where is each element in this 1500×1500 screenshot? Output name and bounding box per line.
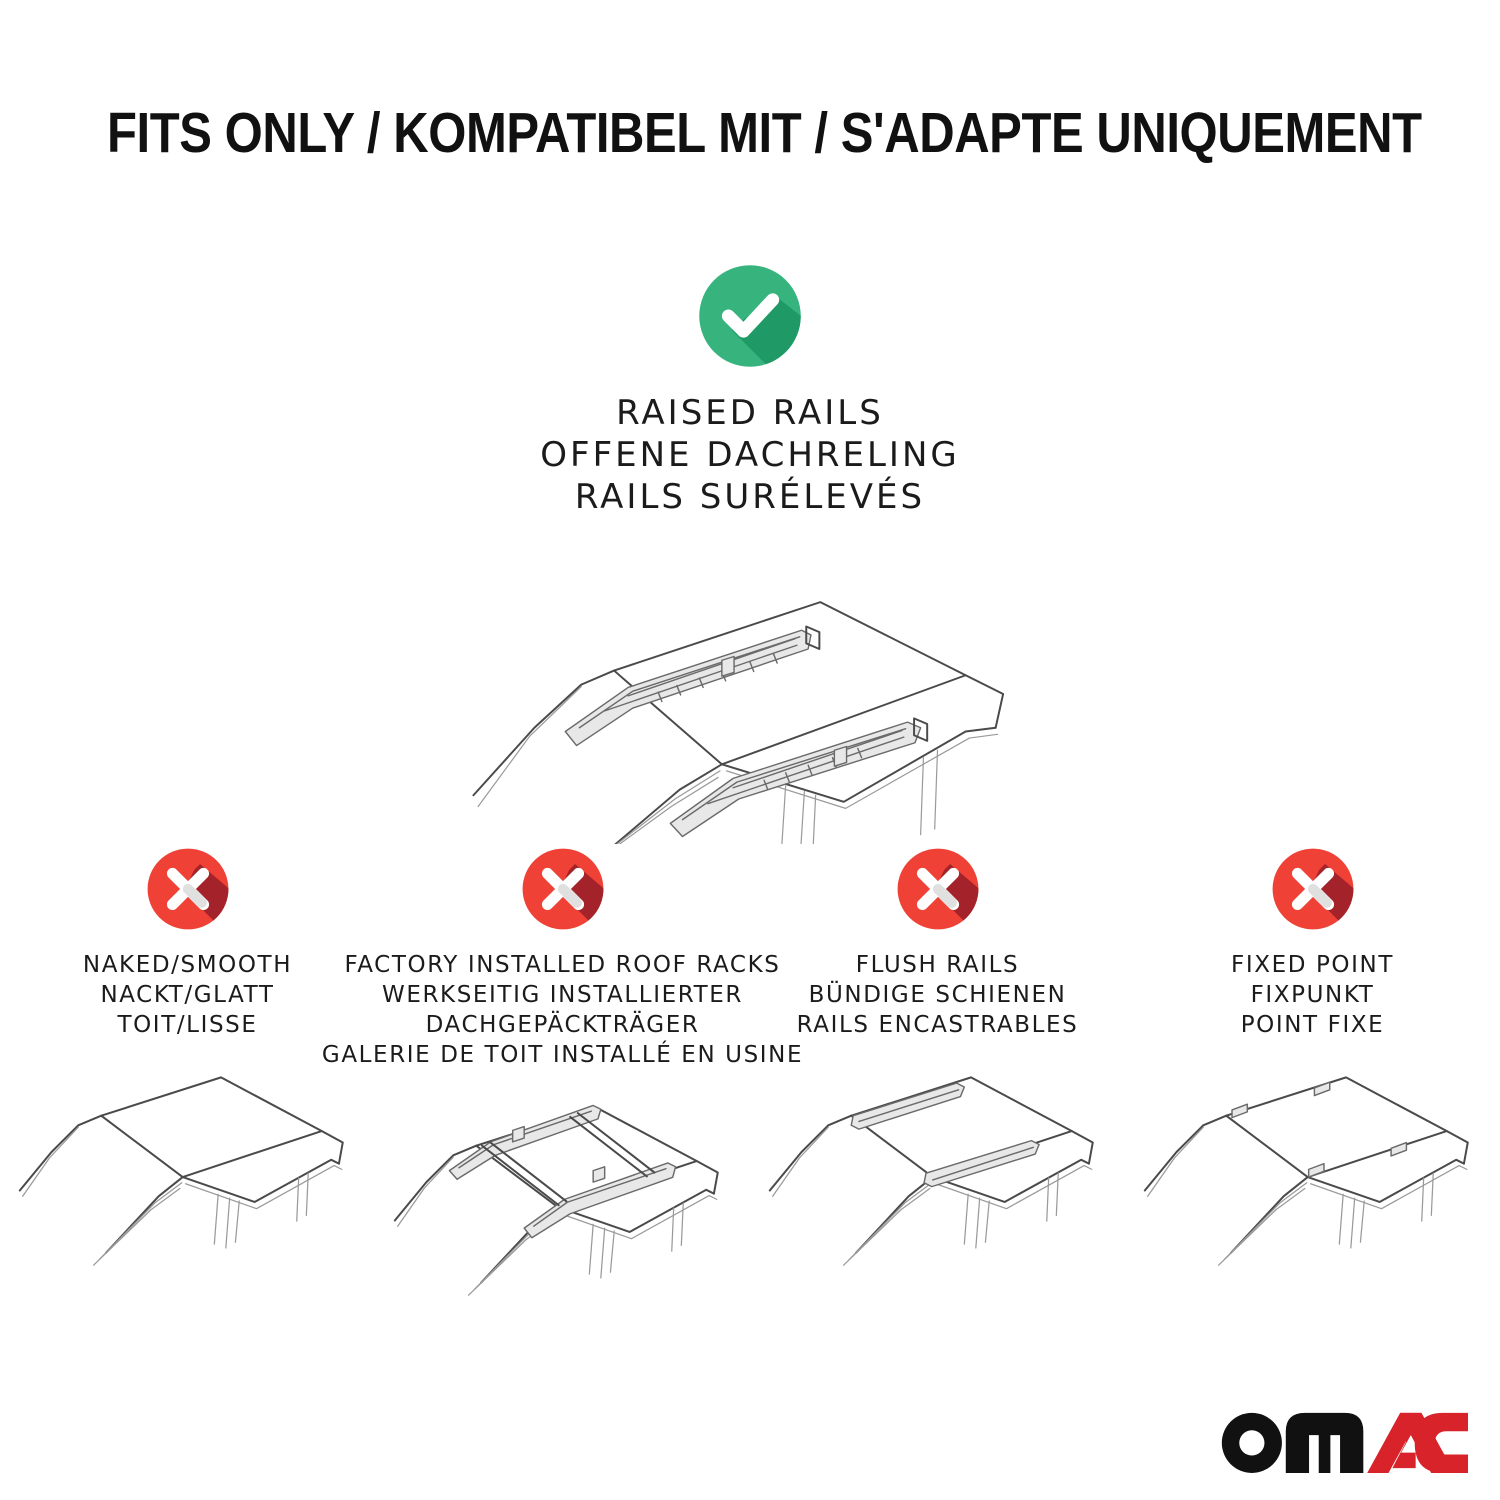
x-circle-icon	[520, 846, 606, 932]
incompatible-item-fixed-point: FIXED POINT FIXPUNKT POINT FIXE	[1125, 846, 1500, 1314]
car-roof-naked-drawing	[0, 1054, 375, 1284]
incompatible-label-naked-smooth: NAKED/SMOOTH NACKT/GLATT TOIT/LISSE	[83, 950, 292, 1040]
compatible-label-line-2: OFFENE DACHRELING	[0, 434, 1500, 476]
label-line-2: WERKSEITIG INSTALLIERTER	[322, 980, 803, 1010]
label-line-1: NAKED/SMOOTH	[83, 950, 292, 980]
x-circle-icon	[1270, 846, 1356, 932]
incompatible-item-flush-rails: FLUSH RAILS BÜNDIGE SCHIENEN RAILS ENCAS…	[750, 846, 1125, 1314]
label-line-1: FLUSH RAILS	[797, 950, 1079, 980]
car-roof-fixed-point-drawing	[1125, 1054, 1500, 1284]
x-circle-icon	[895, 846, 981, 932]
omac-logo	[1216, 1404, 1468, 1476]
incompatible-section: NAKED/SMOOTH NACKT/GLATT TOIT/LISSE	[0, 846, 1500, 1314]
logo-letter-o	[1222, 1413, 1282, 1473]
check-circle-icon	[696, 262, 804, 370]
label-line-3: TOIT/LISSE	[83, 1010, 292, 1040]
compatible-label-line-1: RAISED RAILS	[0, 392, 1500, 434]
incompatible-label-factory-racks: FACTORY INSTALLED ROOF RACKS WERKSEITIG …	[322, 950, 803, 1070]
incompatible-label-flush-rails: FLUSH RAILS BÜNDIGE SCHIENEN RAILS ENCAS…	[797, 950, 1079, 1040]
logo-letter-c	[1415, 1413, 1468, 1473]
compatible-section: RAISED RAILS OFFENE DACHRELING RAILS SUR…	[0, 262, 1500, 844]
label-line-3: RAILS ENCASTRABLES	[797, 1010, 1079, 1040]
page-title-text: FITS ONLY / KOMPATIBEL MIT / S'ADAPTE UN…	[107, 104, 1422, 164]
label-line-3: POINT FIXE	[1231, 1010, 1394, 1040]
car-roof-raised-rails-drawing	[0, 544, 1500, 844]
label-line-2: BÜNDIGE SCHIENEN	[797, 980, 1079, 1010]
label-line-2: FIXPUNKT	[1231, 980, 1394, 1010]
car-roof-flush-rails-drawing	[750, 1054, 1125, 1284]
label-line-3: DACHGEPÄCKTRÄGER	[322, 1010, 803, 1040]
compatible-label: RAISED RAILS OFFENE DACHRELING RAILS SUR…	[0, 392, 1500, 518]
label-line-4: GALERIE DE TOIT INSTALLÉ EN USINE	[322, 1040, 803, 1070]
car-roof-factory-racks-drawing	[375, 1084, 750, 1314]
logo-letter-m	[1286, 1413, 1364, 1473]
label-line-2: NACKT/GLATT	[83, 980, 292, 1010]
label-line-1: FACTORY INSTALLED ROOF RACKS	[322, 950, 803, 980]
incompatible-item-factory-racks: FACTORY INSTALLED ROOF RACKS WERKSEITIG …	[375, 846, 750, 1314]
incompatible-label-fixed-point: FIXED POINT FIXPUNKT POINT FIXE	[1231, 950, 1394, 1040]
incompatible-item-naked-smooth: NAKED/SMOOTH NACKT/GLATT TOIT/LISSE	[0, 846, 375, 1314]
label-line-1: FIXED POINT	[1231, 950, 1394, 980]
x-circle-icon	[145, 846, 231, 932]
compatible-label-line-3: RAILS SURÉLEVÉS	[0, 476, 1500, 518]
page-title: FITS ONLY / KOMPATIBEL MIT / S'ADAPTE UN…	[0, 104, 1500, 164]
